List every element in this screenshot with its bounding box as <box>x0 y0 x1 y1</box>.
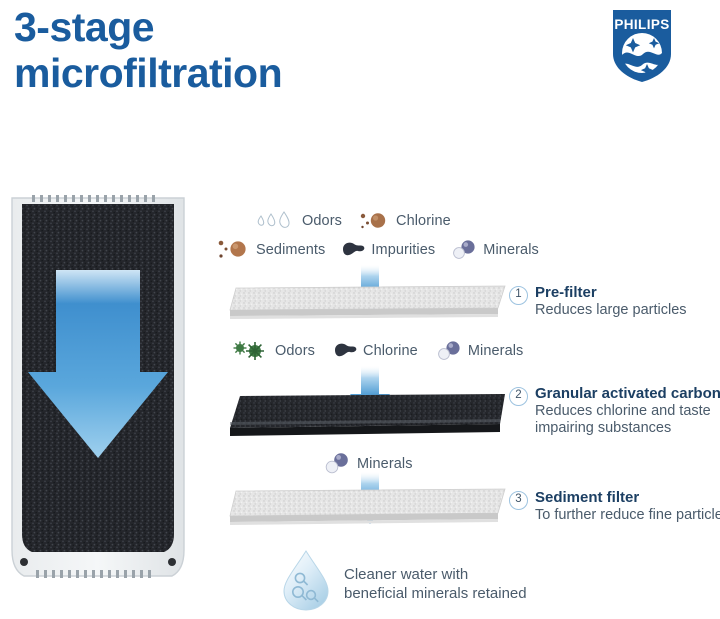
stage-description: Reduces large particles <box>535 302 687 319</box>
stage-description-line2: impairing substances <box>535 420 720 437</box>
water-droplet-icon <box>278 548 334 619</box>
stage-title: Granular activated carbon <box>535 385 720 403</box>
svg-text:PHILIPS: PHILIPS <box>614 17 669 32</box>
stage-block-1: 1 Pre-filter Reduces large particles <box>509 284 687 319</box>
stage-block-3: 3 Sediment filter To further reduce fine… <box>509 489 720 524</box>
page-title: 3-stage microfiltration <box>14 4 434 96</box>
contaminant-label: Minerals <box>468 343 524 359</box>
result-line-1: Cleaner water with <box>344 566 468 583</box>
stage-number-badge: 1 <box>509 286 528 305</box>
stage-title: Sediment filter <box>535 489 720 507</box>
filter-product-image <box>8 192 188 592</box>
contaminant-label: Odors <box>275 343 315 359</box>
contaminant-label: Impurities <box>371 242 435 258</box>
stage-title: Pre-filter <box>535 284 687 302</box>
contaminant-label: Odors <box>302 213 342 229</box>
stage-number-badge: 2 <box>509 387 528 406</box>
dark-blob-icon <box>340 239 366 261</box>
title-line-1: 3-stage <box>14 4 154 50</box>
result-line-2: beneficial minerals retained <box>344 585 527 602</box>
contaminant-label: Minerals <box>483 242 539 258</box>
contaminant-label: Chlorine <box>396 213 451 229</box>
title-line-2: microfiltration <box>14 50 434 96</box>
filter-slab-stage-3 <box>228 485 513 529</box>
contaminant-row-top-a: Odors Chlorine <box>255 210 451 232</box>
philips-logo: PHILIPS <box>611 8 673 84</box>
brown-spheres-icon <box>217 238 251 262</box>
stage-block-2: 2 Granular activated carbon Reduces chlo… <box>509 385 720 437</box>
result-block: Cleaner water with beneficial minerals r… <box>278 548 527 619</box>
dark-blob-icon <box>332 340 358 362</box>
filter-slab-stage-1 <box>228 282 513 324</box>
stage-description: To further reduce fine particles <box>535 507 720 524</box>
mineral-spheres-icon <box>435 340 463 362</box>
contaminant-label: Chlorine <box>363 343 418 359</box>
brown-spheres-icon <box>359 210 391 232</box>
green-germ-icon <box>232 340 270 362</box>
stage-description: Reduces chlorine and taste <box>535 403 720 420</box>
contaminant-row-middle: Odors Chlorine Minerals <box>232 340 523 362</box>
mineral-spheres-icon <box>450 239 478 261</box>
contaminant-label: Minerals <box>357 456 413 472</box>
filter-slab-stage-2 <box>228 392 513 442</box>
infographic-canvas: 3-stage microfiltration PHILIPS <box>0 0 720 618</box>
stage-number-badge: 3 <box>509 491 528 510</box>
water-drops-icon <box>255 211 297 231</box>
result-text: Cleaner water with beneficial minerals r… <box>344 565 527 603</box>
contaminant-label: Sediments <box>256 242 325 258</box>
contaminant-row-top-b: Sediments Impurities Minerals <box>217 238 539 262</box>
